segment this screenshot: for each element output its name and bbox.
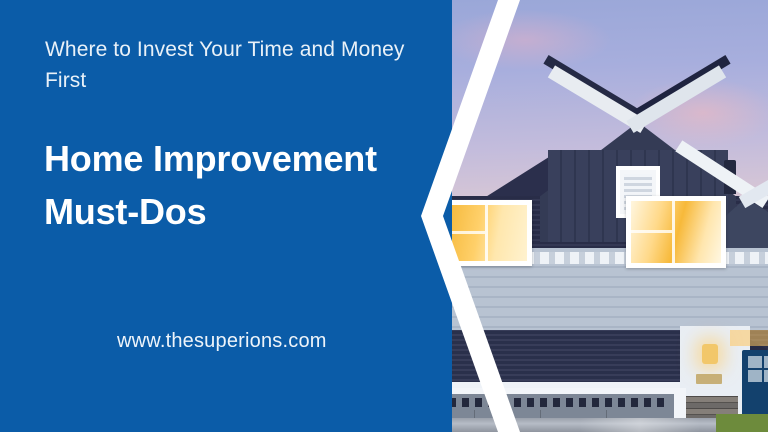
page-title: Home Improvement Must-Dos: [44, 132, 464, 238]
sky-glow-secondary-icon: [440, 10, 610, 70]
lawn: [716, 414, 768, 432]
entry-soffit-light: [730, 330, 768, 346]
banner-canvas: Where to Invest Your Time and Money Firs…: [0, 0, 768, 432]
secondary-gable-trim-right: [739, 137, 768, 208]
address-plaque: [696, 374, 722, 384]
porch-lamp-icon: [702, 344, 718, 364]
driveway-reflection: [580, 418, 700, 432]
garage-door-windows: [430, 398, 668, 407]
banner-subtitle: Where to Invest Your Time and Money Firs…: [45, 34, 425, 96]
site-url: www.thesuperions.com: [117, 330, 327, 353]
lit-window-icon: [626, 196, 726, 268]
front-door-window: [748, 356, 768, 382]
